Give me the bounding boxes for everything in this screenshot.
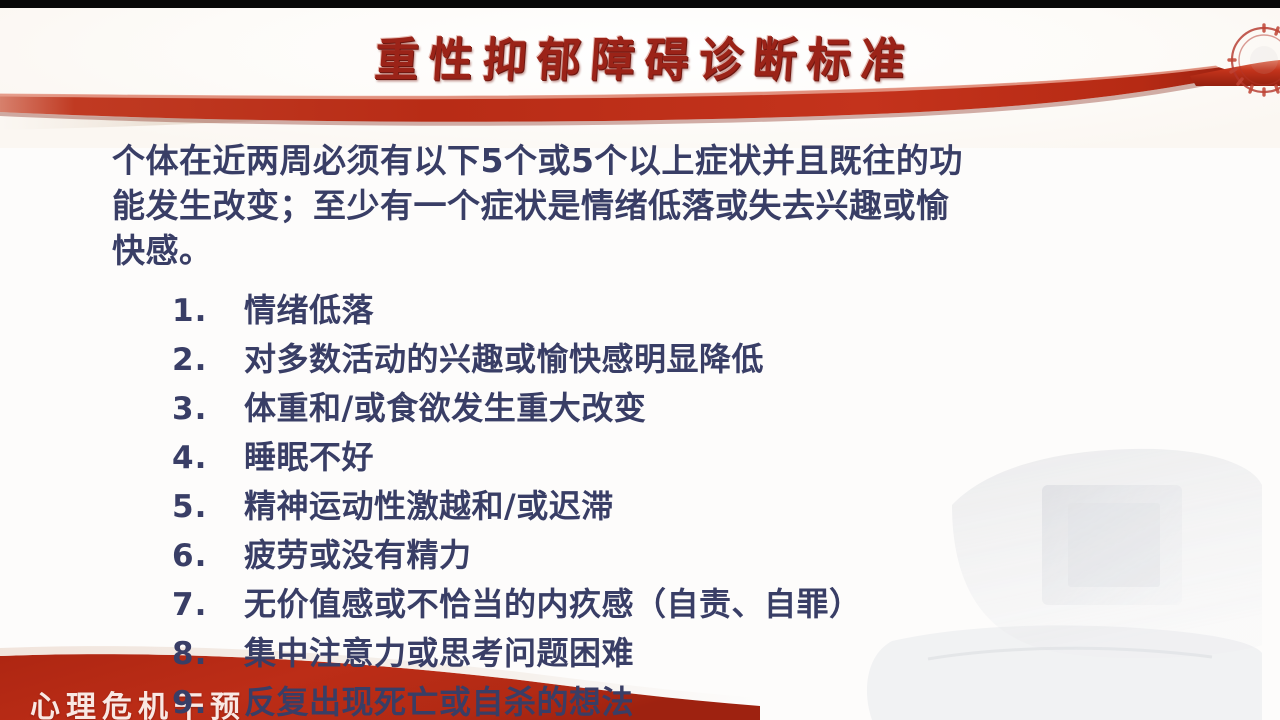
- list-item-label: 情绪低落: [244, 286, 374, 335]
- list-item-number: 6.: [172, 532, 244, 581]
- list-item: 2. 对多数活动的兴趣或愉快感明显降低: [172, 335, 1280, 384]
- list-item-number: 4.: [172, 434, 244, 483]
- list-item: 5. 精神运动性激越和/或迟滞: [172, 482, 1280, 531]
- list-item-label: 对多数活动的兴趣或愉快感明显降低: [244, 335, 764, 384]
- list-item-label: 体重和/或食欲发生重大改变: [244, 384, 646, 433]
- red-ribbon-swoosh: [0, 60, 1280, 140]
- list-item: 1. 情绪低落: [172, 286, 1280, 335]
- list-item-number: 2.: [172, 336, 244, 385]
- list-item: 3. 体重和/或食欲发生重大改变: [172, 384, 1280, 433]
- list-item-number: 5.: [172, 483, 244, 532]
- lead-line-3: 快感。: [112, 228, 1280, 273]
- list-item-label: 无价值感或不恰当的内疚感（自责、自罪）: [244, 580, 862, 629]
- list-item-number: 3.: [172, 385, 244, 434]
- list-item-label: 集中注意力或思考问题困难: [244, 629, 634, 678]
- lead-line-2: 能发生改变；至少有一个症状是情绪低落或失去兴趣或愉: [112, 183, 1280, 228]
- list-item: 9. 反复出现死亡或自杀的想法: [172, 678, 1280, 720]
- list-item-label: 睡眠不好: [244, 433, 374, 482]
- list-item-number: 1.: [172, 287, 244, 336]
- list-item-number: 9.: [172, 679, 244, 720]
- symptom-list: 1. 情绪低落 2. 对多数活动的兴趣或愉快感明显降低 3. 体重和/或食欲发生…: [172, 286, 1280, 720]
- list-item: 4. 睡眠不好: [172, 433, 1280, 482]
- list-item: 8. 集中注意力或思考问题困难: [172, 629, 1280, 678]
- list-item-number: 7.: [172, 581, 244, 630]
- list-item-number: 8.: [172, 630, 244, 679]
- list-item: 6. 疲劳或没有精力: [172, 531, 1280, 580]
- slide-canvas: 重性抑郁障碍诊断标准 个体在近两周必须有以下5个或5个以上症状并且既往的功 能发…: [0, 0, 1280, 720]
- list-item-label: 精神运动性激越和/或迟滞: [244, 482, 614, 531]
- lead-line-1: 个体在近两周必须有以下5个或5个以上症状并且既往的功: [112, 138, 1280, 183]
- list-item: 7. 无价值感或不恰当的内疚感（自责、自罪）: [172, 580, 1280, 629]
- circular-seal-icon: [1226, 22, 1280, 98]
- letterbox-bar-top: [0, 0, 1280, 8]
- list-item-label: 疲劳或没有精力: [244, 531, 472, 580]
- list-item-label: 反复出现死亡或自杀的想法: [244, 678, 634, 720]
- lead-paragraph: 个体在近两周必须有以下5个或5个以上症状并且既往的功 能发生改变；至少有一个症状…: [112, 138, 1280, 273]
